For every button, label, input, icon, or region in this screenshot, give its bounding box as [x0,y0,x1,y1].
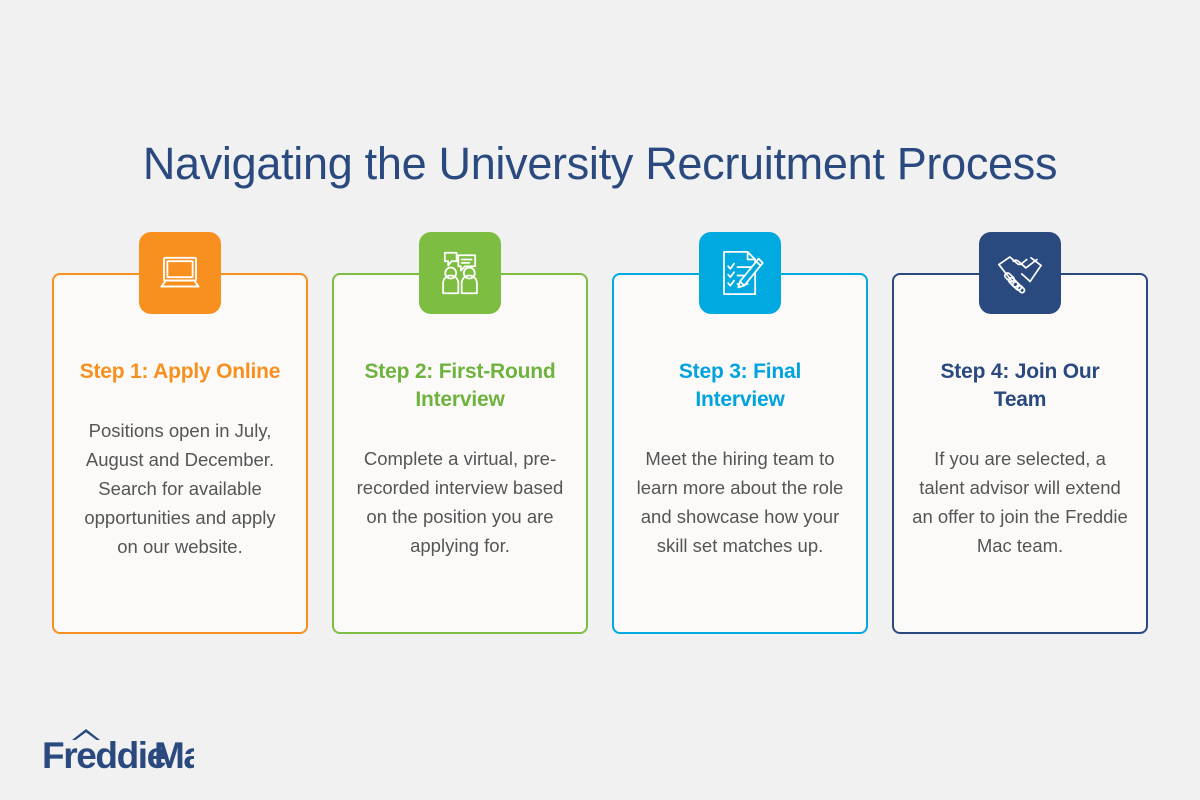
step-title-1: Step 1: Apply Online [68,358,292,386]
freddie-mac-wordmark: Freddie Mac [42,726,194,774]
step-card-4[interactable]: Step 4: Join Our Team If you are selecte… [892,232,1148,634]
step-title-4: Step 4: Join Our Team [908,358,1132,414]
step-card-1[interactable]: Step 1: Apply Online Positions open in J… [52,232,308,634]
svg-text:Mac: Mac [154,735,194,774]
steps-container: Step 1: Apply Online Positions open in J… [52,232,1148,634]
step-title-3: Step 3: Final Interview [628,358,852,414]
svg-text:Freddie: Freddie [42,735,167,774]
freddie-mac-logo: Freddie Mac [42,728,194,774]
step-content-4: Step 4: Join Our Team If you are selecte… [892,273,1148,634]
step-title-2: Step 2: First-Round Interview [348,358,572,414]
step-card-2[interactable]: Step 2: First-Round Interview Complete a… [332,232,588,634]
step-description-3: Meet the hiring team to learn more about… [628,444,852,560]
step-description-2: Complete a virtual, pre-recorded intervi… [348,444,572,560]
laptop-icon [139,232,221,314]
step-description-4: If you are selected, a talent advisor wi… [908,444,1132,560]
handshake-icon [979,232,1061,314]
step-content-3: Step 3: Final Interview Meet the hiring … [612,273,868,634]
step-card-3[interactable]: Step 3: Final Interview Meet the hiring … [612,232,868,634]
step-content-2: Step 2: First-Round Interview Complete a… [332,273,588,634]
step-description-1: Positions open in July, August and Decem… [68,416,292,561]
people-chat-icon [419,232,501,314]
checklist-pencil-icon [699,232,781,314]
page-title: Navigating the University Recruitment Pr… [0,138,1200,190]
step-content-1: Step 1: Apply Online Positions open in J… [52,273,308,634]
infographic-canvas: Navigating the University Recruitment Pr… [0,0,1200,800]
